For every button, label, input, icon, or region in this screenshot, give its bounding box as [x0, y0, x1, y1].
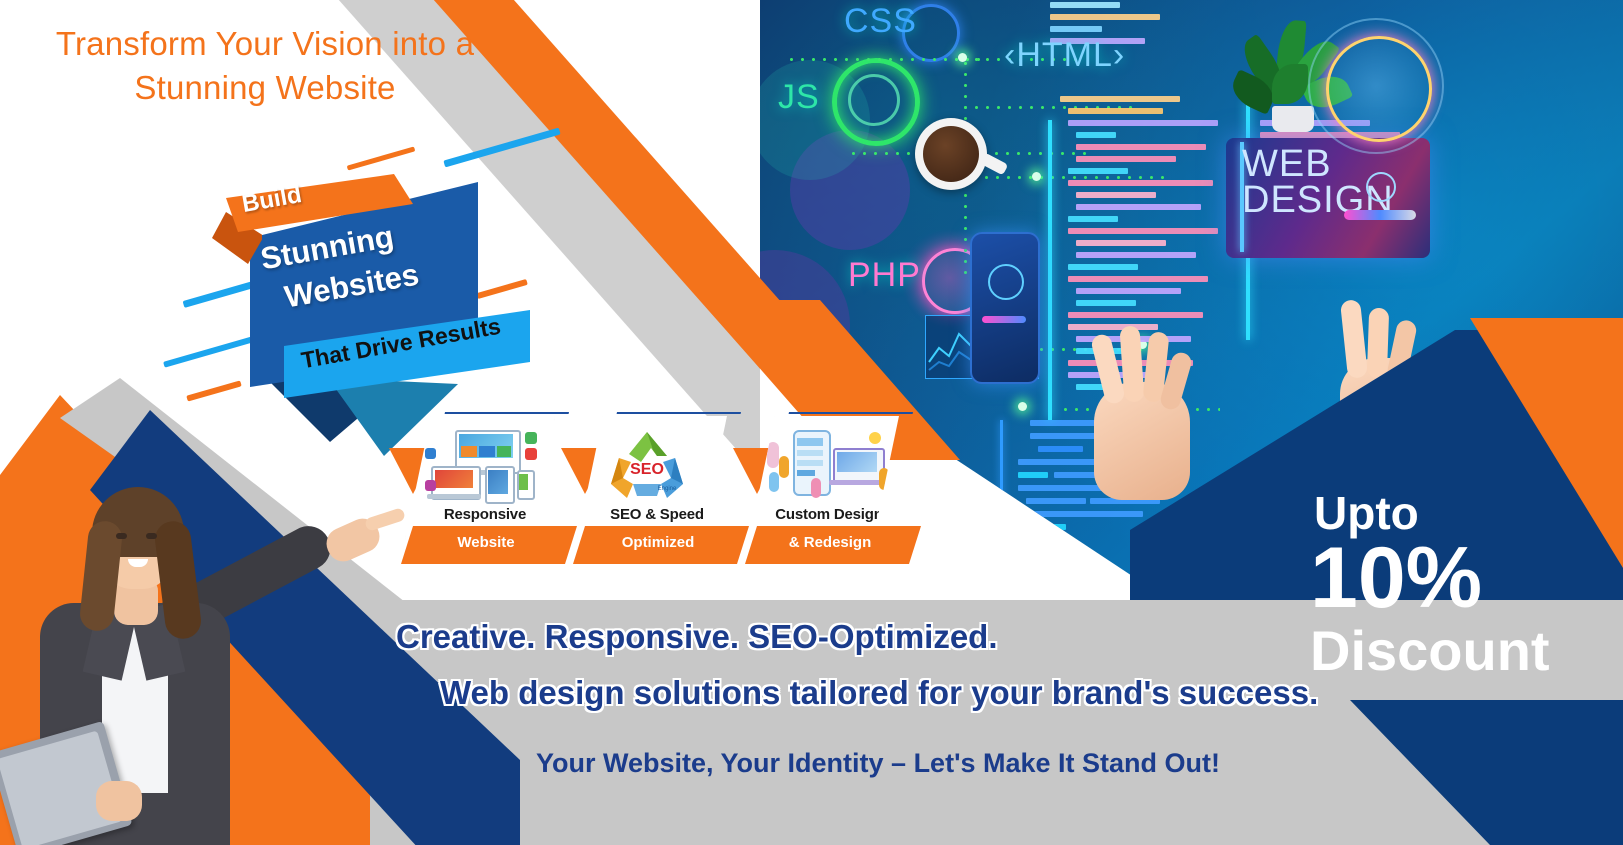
code-line	[1050, 2, 1120, 8]
node-glow-2	[1032, 172, 1041, 181]
businesswoman-photo	[10, 485, 300, 845]
speedline-orange-left	[186, 380, 241, 401]
coffee-handle	[980, 153, 1009, 176]
globe-icon	[1366, 172, 1396, 202]
node-glow-1	[958, 53, 967, 62]
ribbon-callout: Build Stunning Websites That Drive Resul…	[190, 150, 580, 450]
card-title: Custom Design	[749, 506, 899, 523]
feature-card-seo[interactable]: SEO Engine SEO & Speed Optimized	[577, 408, 752, 566]
phone-progress-bar	[982, 316, 1026, 323]
discount-label: Discount	[1310, 623, 1570, 679]
users-group-icon	[988, 264, 1024, 300]
code-line	[1050, 26, 1102, 32]
tagline-primary: Creative. Responsive. SEO-Optimized.	[396, 618, 998, 656]
node-glow-3	[1018, 402, 1027, 411]
card-title: Responsive	[405, 506, 555, 523]
feature-card-responsive[interactable]: Responsive Website	[405, 408, 580, 566]
discount-amount: 10%	[1310, 538, 1570, 619]
devices-icon	[425, 428, 545, 502]
laptop-screen: WEB DESIGN	[1226, 138, 1430, 258]
hand-left-icon	[1070, 330, 1210, 510]
ribbon-core: Build Stunning Websites That Drive Resul…	[250, 182, 480, 412]
connector-dotline-1	[786, 58, 986, 61]
card-banner: Website	[401, 526, 577, 564]
card-banner-label: & Redesign	[745, 526, 921, 560]
tech-label-js: JS	[778, 78, 820, 117]
tech-label-php: PHP	[848, 256, 921, 295]
tech-label-html: ‹HTML›	[1004, 36, 1125, 75]
svg-text:Engine: Engine	[658, 486, 677, 492]
seo-recycle-icon: SEO Engine	[605, 428, 689, 502]
coffee-cup-icon	[915, 118, 987, 190]
tech-label-css: CSS	[844, 2, 917, 41]
js-neon-ring-inner-icon	[848, 74, 900, 126]
card-banner: Optimized	[573, 526, 749, 564]
code-line	[1050, 14, 1160, 20]
discount-badge: Upto 10% Discount	[1310, 490, 1570, 679]
screen-progress-bar	[1344, 210, 1416, 220]
card-banner-label: Website	[401, 526, 577, 560]
tagline-secondary: Web design solutions tailored for your b…	[440, 674, 1318, 712]
card-title: SEO & Speed	[577, 506, 727, 523]
speedline-orange-top	[347, 146, 416, 170]
neon-ring-inner-icon	[1326, 36, 1432, 142]
bracket-left-icon: ‹	[1004, 36, 1016, 74]
card-face: Custom Design	[749, 416, 899, 540]
promo-banner: WEB DESIGN	[0, 0, 1623, 845]
card-banner-label: Optimized	[573, 526, 749, 560]
card-face: Responsive	[405, 416, 555, 540]
bracket-right-icon: ›	[1113, 36, 1125, 74]
feature-card-list: Responsive Website	[405, 408, 925, 568]
tagline-cta: Your Website, Your Identity – Let's Make…	[536, 748, 1220, 779]
speedline-cyan-left-2	[163, 334, 261, 367]
svg-text:SEO: SEO	[630, 461, 664, 478]
card-banner: & Redesign	[745, 526, 921, 564]
card-face: SEO Engine SEO & Speed	[577, 416, 727, 540]
tech-label-html-text: HTML	[1016, 36, 1113, 74]
neon-bar-1	[1048, 120, 1052, 420]
page-title: Transform Your Vision into a Stunning We…	[30, 22, 500, 110]
feature-card-custom-design[interactable]: Custom Design & Redesign	[749, 408, 924, 566]
speedline-orange-right	[476, 279, 528, 299]
coffee-liquid	[923, 126, 979, 182]
connector-dotcol-2	[964, 190, 967, 280]
smartphone-icon	[970, 232, 1040, 384]
design-devices-icon	[763, 428, 891, 502]
